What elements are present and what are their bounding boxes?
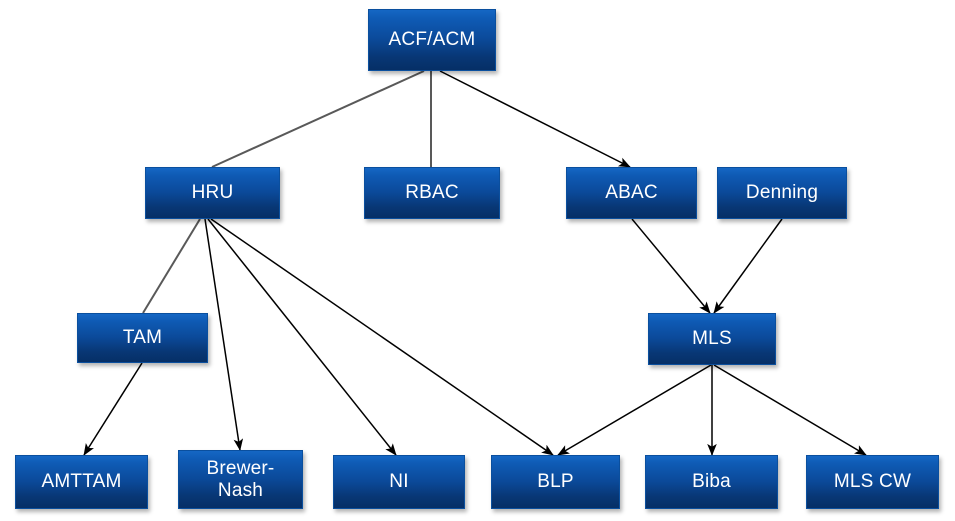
diagram-canvas: ACF/ACMHRURBACABACDenningTAMMLSAMTTAMBre… — [0, 0, 955, 521]
edge-acf-hru — [212, 71, 424, 167]
node-label-ni: NI — [385, 471, 412, 492]
edge-abac-mls — [632, 219, 710, 313]
node-label-denning: Denning — [742, 182, 822, 203]
edge-tam-amttam — [84, 363, 142, 455]
node-label-rbac: RBAC — [401, 182, 463, 203]
node-label-acf_acm: ACF/ACM — [385, 29, 480, 50]
edge-hru-tam — [143, 219, 200, 313]
node-hru[interactable]: HRU — [145, 167, 280, 219]
node-biba[interactable]: Biba — [645, 455, 778, 509]
edge-mls-blp — [558, 365, 711, 455]
node-acf_acm[interactable]: ACF/ACM — [368, 9, 496, 71]
node-blp[interactable]: BLP — [491, 455, 620, 509]
node-tam[interactable]: TAM — [77, 313, 208, 363]
node-mls[interactable]: MLS — [648, 313, 776, 365]
node-brewer_nash[interactable]: Brewer- Nash — [178, 450, 303, 509]
node-denning[interactable]: Denning — [717, 167, 847, 219]
edge-denning-mls — [714, 219, 782, 313]
node-ni[interactable]: NI — [333, 455, 465, 509]
node-abac[interactable]: ABAC — [566, 167, 697, 219]
node-label-brewer_nash: Brewer- Nash — [203, 458, 279, 501]
edge-hru-ni — [208, 219, 396, 455]
node-label-blp: BLP — [533, 471, 578, 492]
edge-hru-blp — [211, 219, 553, 455]
node-label-tam: TAM — [119, 327, 166, 348]
edge-acf-abac — [440, 71, 630, 167]
node-label-amttam: AMTTAM — [37, 471, 125, 492]
edge-mls-mlscw — [714, 365, 866, 455]
edge-layer — [0, 0, 955, 521]
node-mls_cw[interactable]: MLS CW — [806, 455, 939, 509]
node-amttam[interactable]: AMTTAM — [15, 455, 148, 509]
node-rbac[interactable]: RBAC — [364, 167, 500, 219]
node-label-mls_cw: MLS CW — [830, 471, 915, 492]
node-label-hru: HRU — [188, 182, 238, 203]
node-label-biba: Biba — [688, 471, 735, 492]
node-label-mls: MLS — [688, 328, 736, 349]
node-label-abac: ABAC — [601, 182, 662, 203]
